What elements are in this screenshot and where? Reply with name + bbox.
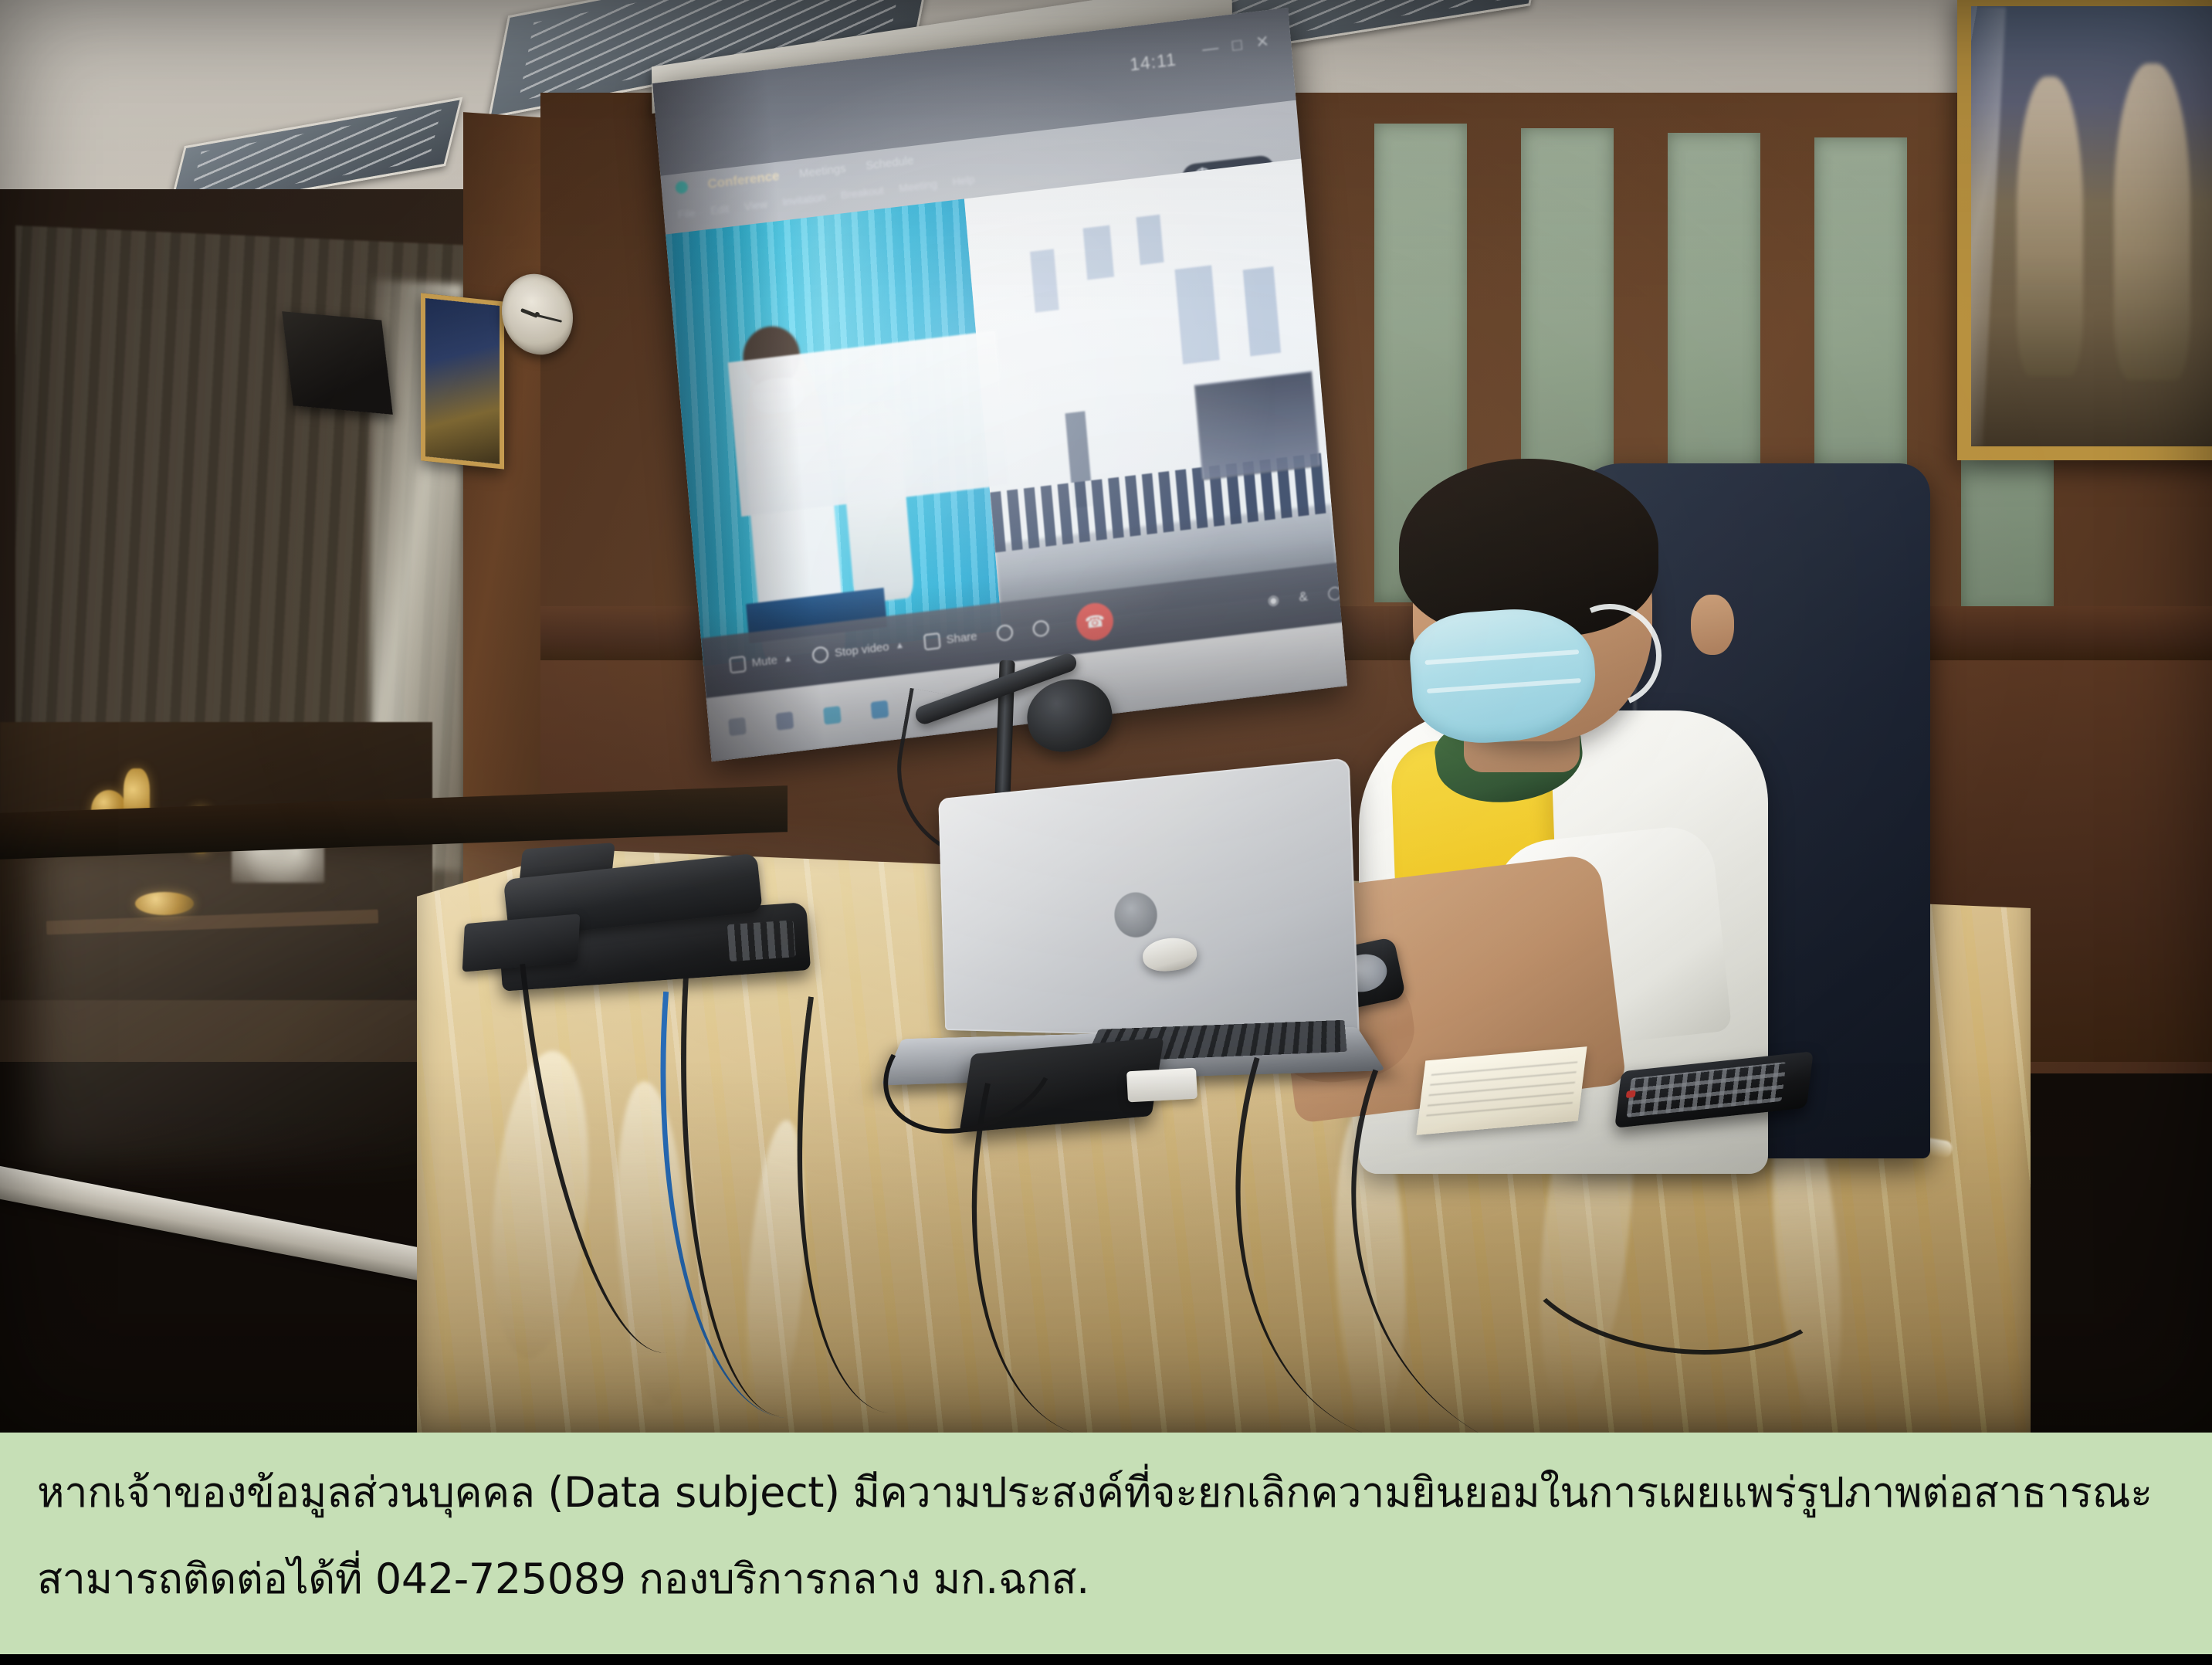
share-screen-icon	[923, 632, 941, 649]
submenu-meeting[interactable]: Meeting	[899, 178, 938, 195]
mute-button[interactable]: Mute ▲	[729, 649, 793, 673]
chevron-up-icon[interactable]: ▲	[895, 639, 905, 650]
seated-person: KU	[1313, 471, 1915, 1166]
start-icon[interactable]	[728, 717, 747, 737]
screenshot-root: 14:11 — □ ✕ Conference Meetings Schedule…	[0, 0, 2212, 1665]
search-icon[interactable]	[776, 711, 794, 731]
chevron-up-icon[interactable]: ▲	[783, 653, 793, 664]
participant-thumbnail[interactable]	[1194, 371, 1321, 480]
participants-icon[interactable]	[996, 623, 1014, 641]
submenu-file[interactable]: File	[677, 206, 696, 221]
royal-portrait	[1957, 0, 2212, 460]
camera-icon	[811, 646, 829, 663]
phone-keypad[interactable]	[727, 920, 796, 961]
end-call-button[interactable]: ☎	[1075, 601, 1115, 643]
projection-screen: 14:11 — □ ✕ Conference Meetings Schedule…	[652, 8, 1347, 761]
submenu-help[interactable]: Help	[952, 173, 975, 188]
stop-video-button[interactable]: Stop video ▲	[811, 636, 905, 663]
caption-line-1: หากเจ้าของข้อมูลส่วนบุคคล (Data subject)…	[37, 1467, 2175, 1519]
record-icon[interactable]: ◉	[1267, 592, 1279, 609]
laptop-logo-icon	[1114, 891, 1158, 938]
submenu-edit[interactable]: Edit	[710, 202, 729, 217]
minimize-icon[interactable]: —	[1201, 38, 1219, 58]
menu-brand: Conference	[707, 168, 781, 192]
app-icon[interactable]	[871, 700, 889, 720]
bottom-black-bar	[0, 1654, 2212, 1665]
share-button[interactable]: Share	[923, 628, 977, 650]
pdpa-caption-banner: หากเจ้าของข้อมูลส่วนบุคคล (Data subject)…	[0, 1433, 2212, 1654]
submenu-breakout[interactable]: Breakout	[840, 184, 884, 202]
framed-picture	[421, 293, 504, 469]
restore-icon[interactable]: □	[1231, 36, 1243, 55]
app-logo-icon	[675, 181, 688, 195]
close-icon[interactable]: ✕	[1255, 32, 1270, 53]
chat-icon[interactable]	[1032, 619, 1050, 637]
submenu-invitation[interactable]: Invitation	[782, 191, 826, 209]
people-icon[interactable]: &	[1299, 588, 1309, 605]
power-adapter	[1126, 1068, 1197, 1103]
browser-icon[interactable]	[823, 706, 842, 725]
laptop-lid	[938, 758, 1360, 1041]
menu-item-schedule[interactable]: Schedule	[865, 153, 915, 171]
caption-line-2: สามารถติดต่อได้ที่ 042-725089 กองบริการก…	[37, 1553, 2175, 1606]
meeting-room-photograph: 14:11 — □ ✕ Conference Meetings Schedule…	[0, 0, 2212, 1433]
ceiling-speaker-icon	[282, 311, 393, 415]
menu-item-meetings[interactable]: Meetings	[798, 161, 846, 180]
shared-content-panel	[728, 331, 1008, 517]
submenu-view[interactable]: View	[744, 198, 767, 213]
microphone-icon	[729, 655, 747, 673]
